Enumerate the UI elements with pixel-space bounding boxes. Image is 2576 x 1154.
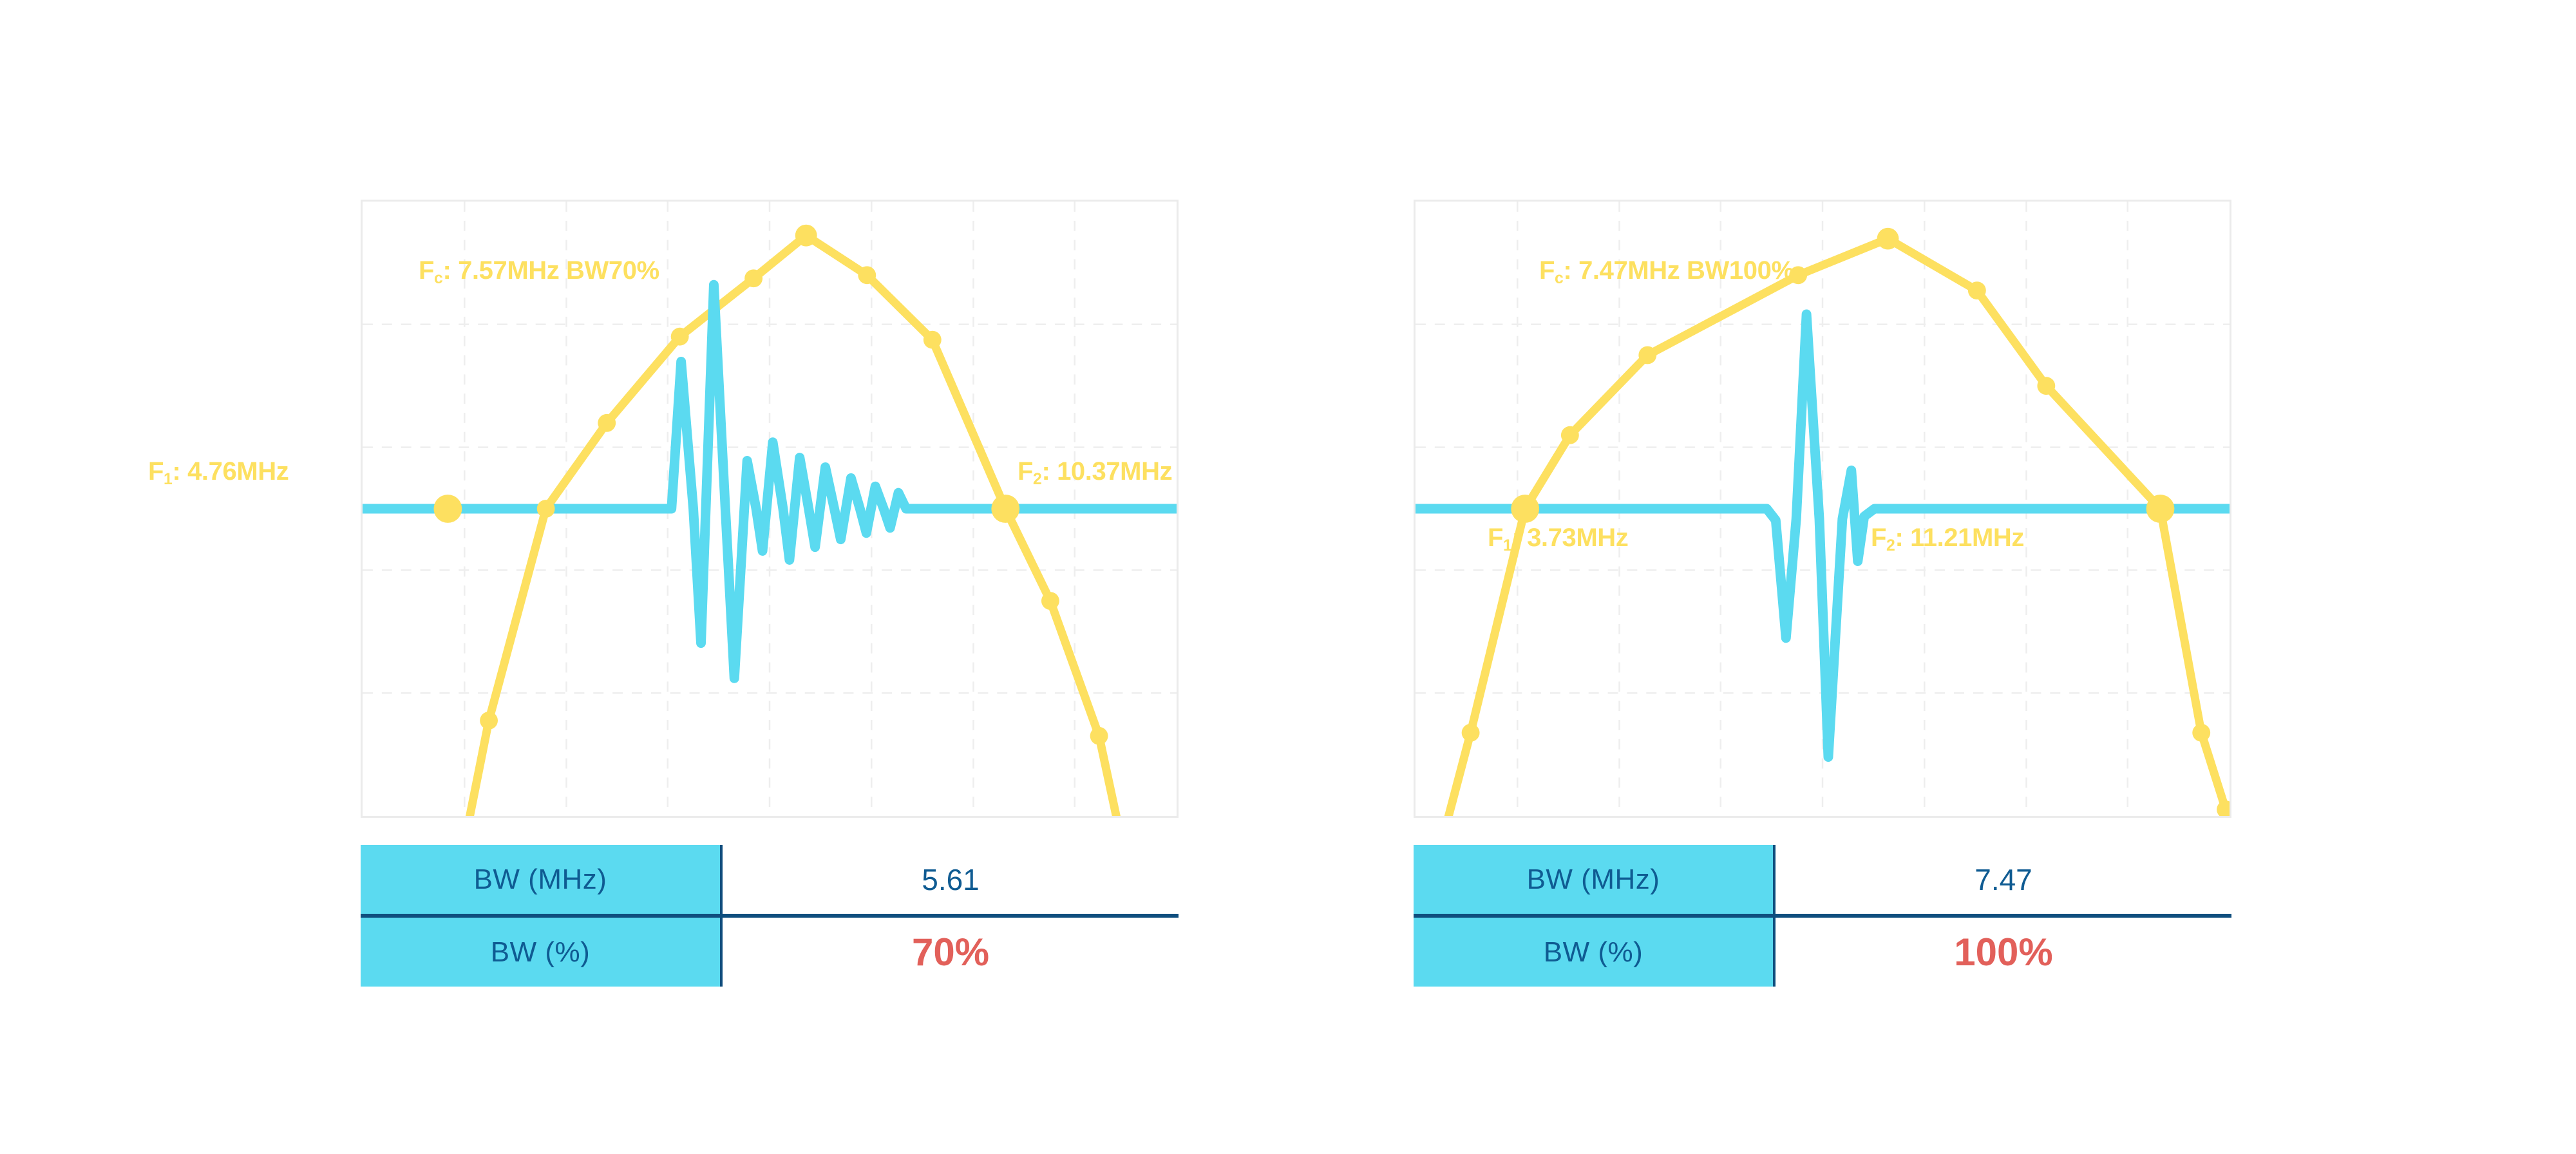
marker-f2-right [2146, 495, 2175, 523]
annot-text: : 11.21MHz [1895, 524, 2024, 552]
annot-text: : 7.47MHz BW100% [1563, 256, 1794, 285]
figure-canvas: Fc: 7.57MHz BW70% F1: 4.76MHz F2: 10.37M… [0, 0, 2576, 1154]
annot-prefix: F [1539, 256, 1555, 285]
annot-prefix: F [1018, 457, 1033, 486]
marker-f2-left [991, 495, 1019, 523]
plot-svg-right [1416, 202, 2230, 816]
table-row: BW (MHz) 5.61 [361, 845, 1179, 916]
table-row: BW (%) 100% [1414, 916, 2231, 987]
plot-frame-left [361, 200, 1179, 818]
annotation-f2-left: F2: 10.37MHz [1018, 459, 1172, 484]
annot-prefix: F [148, 457, 164, 486]
annot-subscript: 2 [1886, 537, 1895, 554]
annot-subscript: c [434, 270, 442, 287]
marker-f1-left [433, 495, 462, 523]
table-cell-value-bw-mhz: 5.61 [721, 845, 1179, 916]
table-cell-value-bw-pct: 70% [721, 916, 1179, 987]
bandwidth-table-left: BW (MHz) 5.61 BW (%) 70% [361, 845, 1179, 987]
annot-subscript: 1 [1503, 537, 1511, 554]
table-cell-label-bw-pct: BW (%) [1414, 916, 1774, 987]
annot-prefix: F [1871, 524, 1886, 552]
annot-text: : 3.73MHz [1511, 524, 1628, 552]
table-cell-value-bw-pct: 100% [1774, 916, 2231, 987]
table-row: BW (%) 70% [361, 916, 1179, 987]
panel-narrowband-70: Fc: 7.57MHz BW70% F1: 4.76MHz F2: 10.37M… [316, 0, 1217, 1154]
annotation-f1-left: F1: 4.76MHz [148, 459, 289, 484]
annotation-center-frequency-left: Fc: 7.57MHz BW70% [419, 258, 659, 283]
annotation-f2-right: F2: 11.21MHz [1871, 525, 2024, 551]
marker-f1-right [1511, 495, 1539, 523]
annot-subscript: c [1555, 270, 1563, 287]
annot-prefix: F [1488, 524, 1503, 552]
annotation-center-frequency-right: Fc: 7.47MHz BW100% [1539, 258, 1794, 283]
plot-frame-right [1414, 200, 2231, 818]
table-cell-value-bw-mhz: 7.47 [1774, 845, 2231, 916]
bandwidth-table-right: BW (MHz) 7.47 BW (%) 100% [1414, 845, 2231, 987]
panel-broadband-100: Fc: 7.47MHz BW100% F1: 3.73MHz F2: 11.21… [1368, 0, 2270, 1154]
annot-subscript: 1 [164, 471, 172, 488]
annot-text: : 10.37MHz [1041, 457, 1172, 486]
table-cell-label-bw-mhz: BW (MHz) [361, 845, 721, 916]
plot-svg-left [363, 202, 1177, 816]
annot-text: : 7.57MHz BW70% [442, 256, 659, 285]
annot-prefix: F [419, 256, 434, 285]
annotation-f1-right: F1: 3.73MHz [1488, 525, 1628, 551]
annot-text: : 4.76MHz [172, 457, 289, 486]
table-cell-label-bw-mhz: BW (MHz) [1414, 845, 1774, 916]
table-row: BW (MHz) 7.47 [1414, 845, 2231, 916]
annot-subscript: 2 [1033, 471, 1041, 488]
table-cell-label-bw-pct: BW (%) [361, 916, 721, 987]
